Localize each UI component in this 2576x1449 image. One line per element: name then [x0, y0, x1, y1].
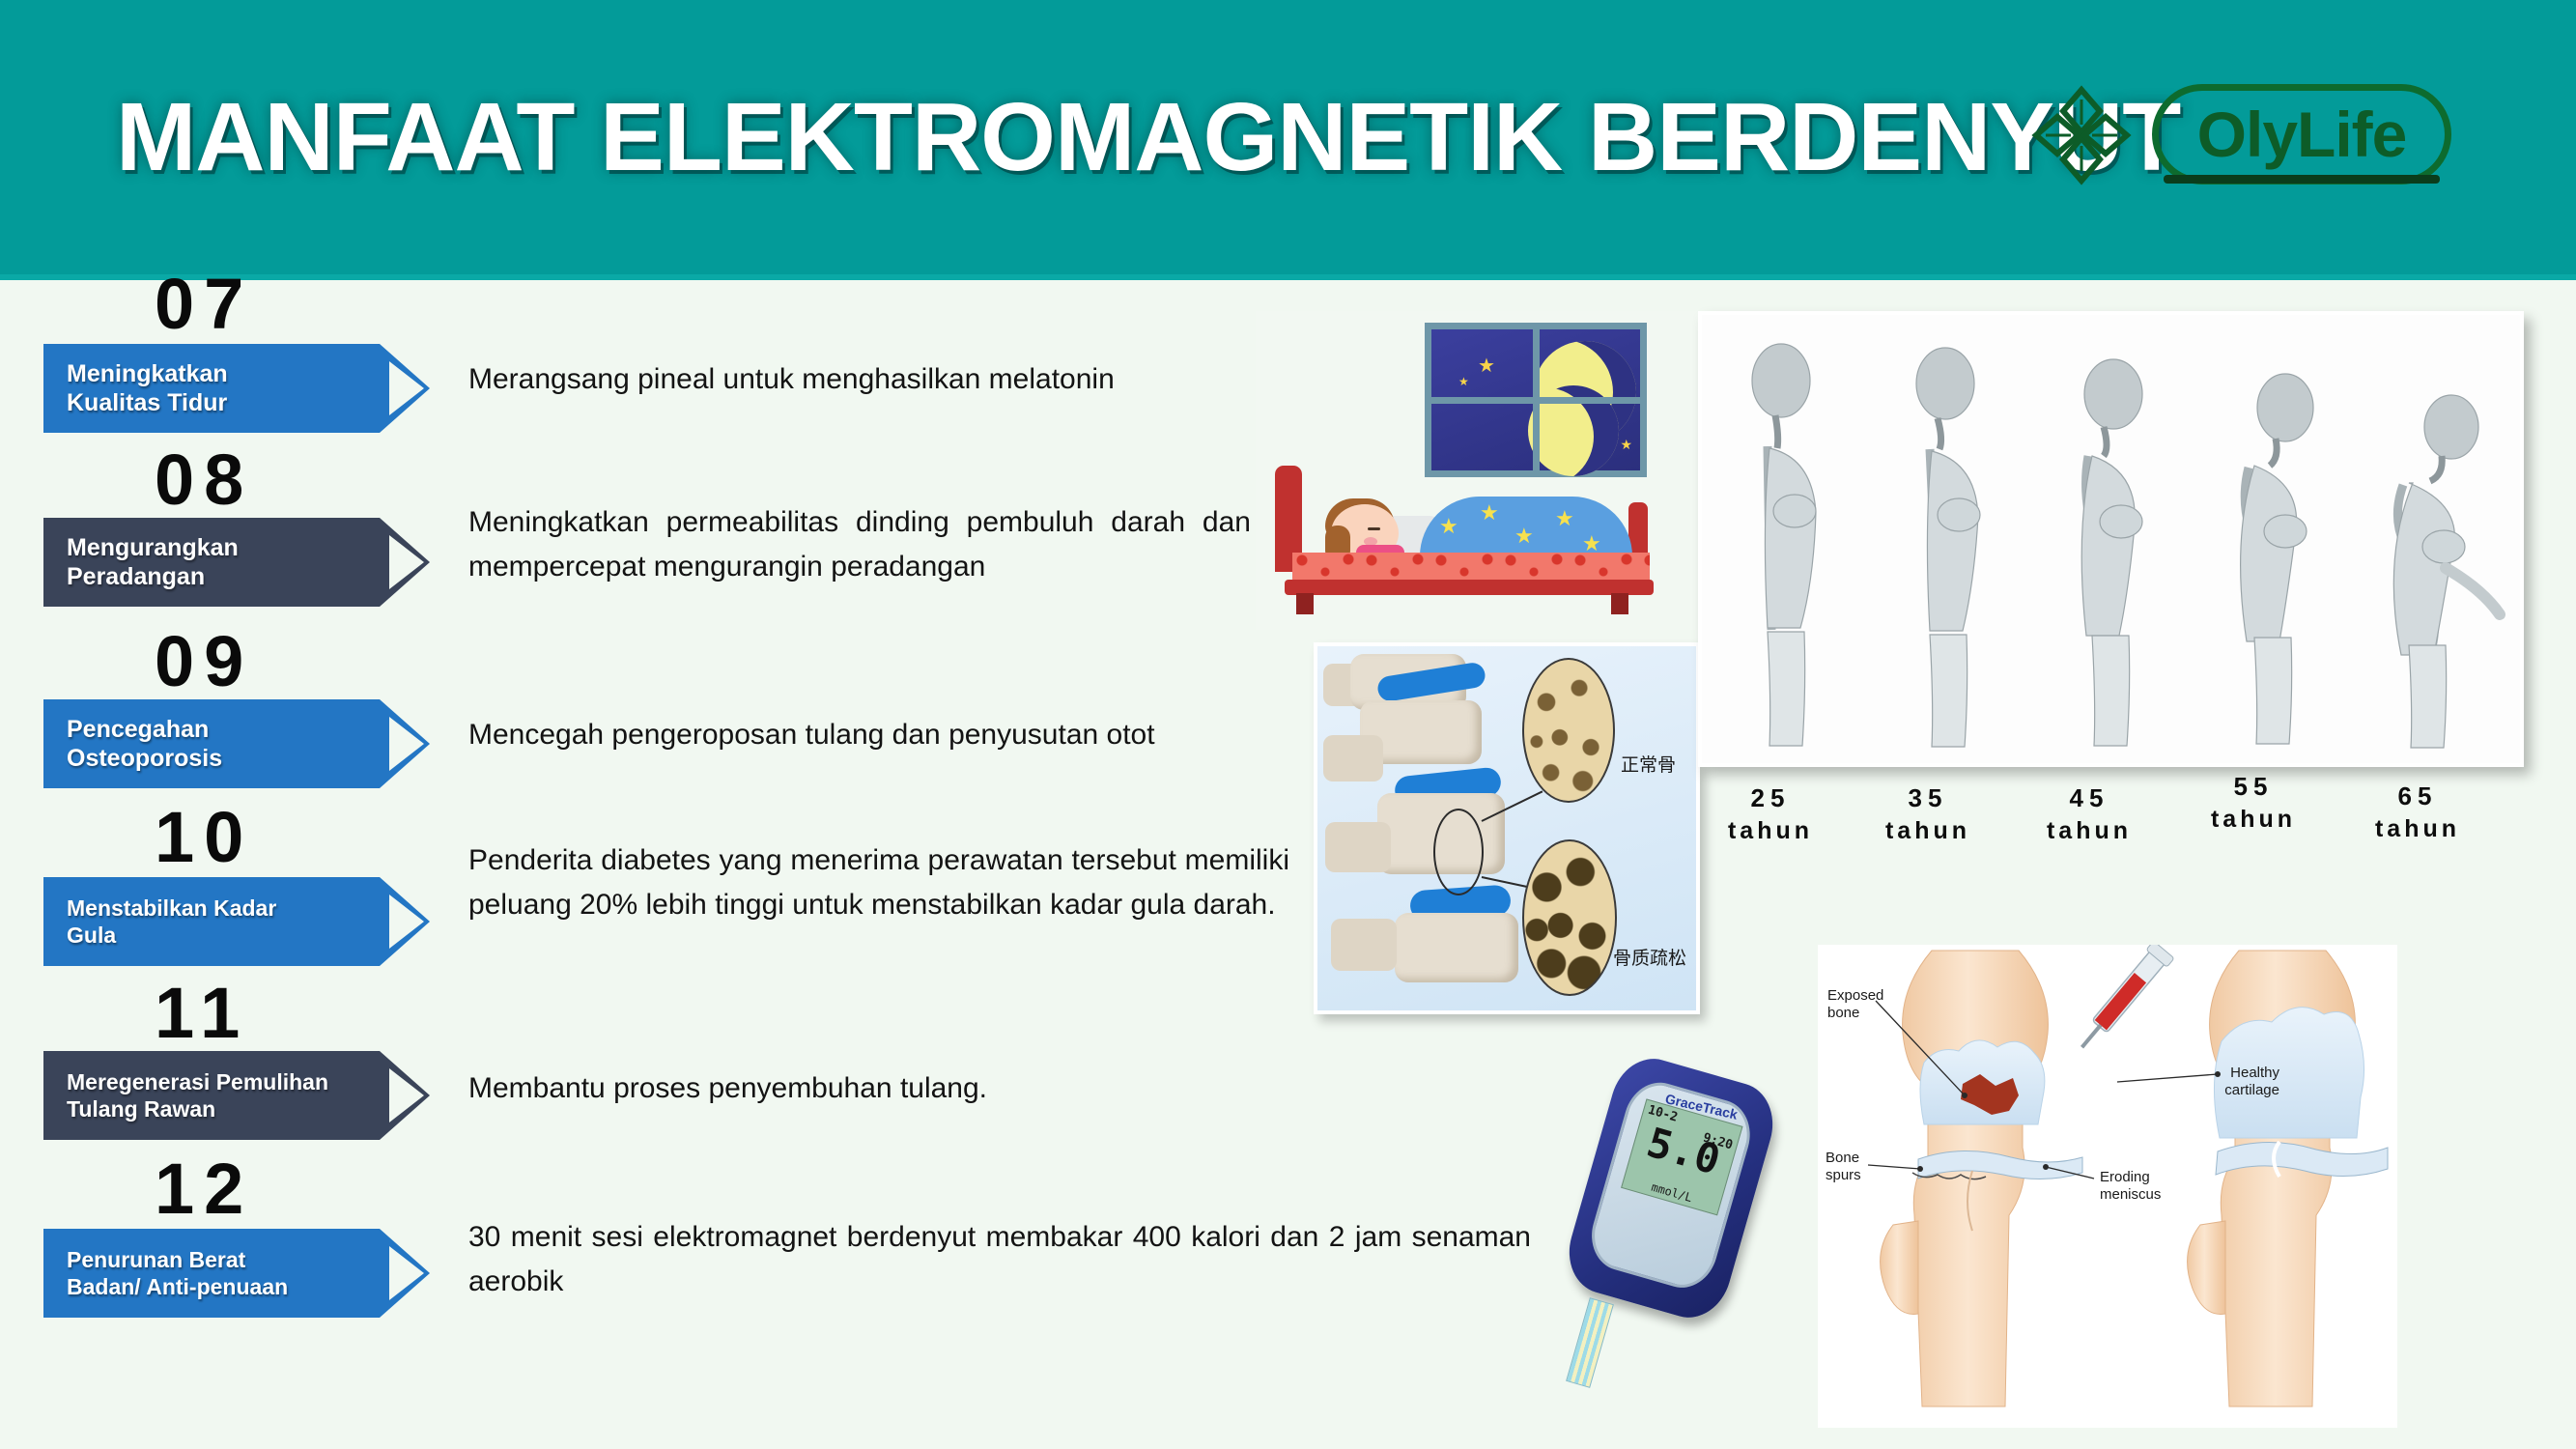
- benefit-label-line2: Peradangan: [67, 562, 430, 592]
- spinous-process: [1323, 735, 1383, 781]
- blanket: ★ ★ ★ ★ ★: [1420, 497, 1632, 556]
- vertebra-body: [1395, 913, 1518, 982]
- benefit-label-line2: Gula: [67, 922, 430, 949]
- olylife-logo: OlyLife: [2028, 82, 2453, 188]
- benefit-label-line1: Menstabilkan Kadar: [67, 895, 430, 922]
- meter-reading: 5.0: [1630, 1119, 1737, 1184]
- benefit-label-line2: Badan/ Anti-penuaan: [67, 1273, 430, 1300]
- mattress: [1292, 553, 1650, 582]
- benefit-number: 08: [155, 444, 253, 516]
- star-icon: ★: [1478, 356, 1495, 376]
- age-unit: tahun: [2181, 806, 2326, 834]
- bone-sample-marker: [1433, 809, 1484, 895]
- star-icon: ★: [1439, 516, 1458, 537]
- logo-text: OlyLife: [2159, 91, 2445, 178]
- age-label: 65 tahun: [2345, 781, 2490, 843]
- age-unit: tahun: [1698, 817, 1843, 845]
- age-label: 35 tahun: [1855, 783, 2000, 845]
- benefit-label-line1: Penurunan Berat: [67, 1246, 430, 1273]
- healthy-cartilage-label-line1: Healthy: [2173, 1065, 2279, 1082]
- bone-spurs-label-line1: Bone: [1826, 1150, 1861, 1167]
- osteoporosis-spine-diagram: 正常骨 骨质疏松: [1314, 642, 1700, 1014]
- benefit-number: 09: [155, 626, 253, 697]
- spinous-process: [1331, 919, 1397, 971]
- healthy-cartilage-label: Healthy cartilage: [2173, 1065, 2279, 1099]
- arrow-notch: [389, 895, 424, 949]
- benefit-label-line1: Meningkatkan: [67, 359, 430, 389]
- star-icon: ★: [1514, 526, 1534, 547]
- star-icon: ★: [1620, 438, 1632, 451]
- logo-underline: [2164, 175, 2440, 184]
- bed-leg: [1296, 593, 1314, 614]
- arrow-notch: [389, 361, 424, 415]
- eroding-meniscus-label-line2: meniscus: [2100, 1186, 2161, 1204]
- benefit-description: Penderita diabetes yang menerima perawat…: [468, 838, 1289, 926]
- age-number: 65: [2345, 781, 2490, 811]
- benefit-description: 30 menit sesi elektromagnet berdenyut me…: [468, 1215, 1531, 1303]
- logo-wordmark-pill: OlyLife: [2152, 84, 2451, 185]
- age-label: 55 tahun: [2181, 772, 2326, 834]
- spinous-process: [1325, 822, 1391, 872]
- benefit-label-line2: Osteoporosis: [67, 744, 430, 774]
- benefit-number: 12: [155, 1153, 253, 1225]
- benefit-label-line1: Mengurangkan: [67, 533, 430, 563]
- age-unit: tahun: [2017, 817, 2162, 845]
- eroding-meniscus-label-line1: Eroding: [2100, 1169, 2161, 1186]
- bed: ★ ★ ★ ★ ★: [1275, 466, 1642, 611]
- exposed-bone-label-line2: bone: [1827, 1005, 1883, 1022]
- osteoporosis-label: 骨质疏松: [1613, 944, 1686, 970]
- benefit-label-08[interactable]: Mengurangkan Peradangan: [43, 518, 430, 607]
- mattress-pattern: [1292, 553, 1650, 582]
- age-label: 25 tahun: [1698, 783, 1843, 845]
- arrow-notch: [389, 535, 424, 589]
- exposed-bone-label: Exposed bone: [1827, 987, 1883, 1022]
- posture-progression-diagram: [1698, 311, 2524, 767]
- arrow-notch: [389, 1068, 424, 1122]
- benefit-description: Membantu proses penyembuhan tulang.: [468, 1066, 1260, 1111]
- age-number: 55: [2181, 772, 2326, 802]
- benefit-number: 10: [155, 802, 253, 873]
- benefit-label-line1: Meregenerasi Pemulihan: [67, 1068, 430, 1095]
- normal-bone-label: 正常骨: [1621, 751, 1676, 777]
- benefit-label-09[interactable]: Pencegahan Osteoporosis: [43, 699, 430, 788]
- star-icon: ★: [1555, 508, 1574, 529]
- benefit-label-10[interactable]: Menstabilkan Kadar Gula: [43, 877, 430, 966]
- benefits-list: 07 Meningkatkan Kualitas Tidur Merangsan…: [0, 278, 1285, 1449]
- benefit-description: Merangsang pineal untuk menghasilkan mel…: [468, 357, 1241, 402]
- benefit-label-line2: Kualitas Tidur: [67, 388, 430, 418]
- age-unit: tahun: [2345, 815, 2490, 843]
- age-unit: tahun: [1855, 817, 2000, 845]
- benefit-label-line1: Pencegahan: [67, 715, 430, 745]
- star-icon: ★: [1458, 376, 1469, 387]
- osteoporotic-bone-sample: [1522, 839, 1617, 996]
- four-petal-flower-icon: [2028, 82, 2135, 188]
- benefit-label-07[interactable]: Meningkatkan Kualitas Tidur: [43, 344, 430, 433]
- healthy-cartilage-label-line2: cartilage: [2173, 1082, 2279, 1099]
- arrow-notch: [389, 1246, 424, 1300]
- bed-base: [1285, 580, 1654, 595]
- test-strip: [1566, 1297, 1614, 1388]
- star-icon: ★: [1480, 502, 1499, 524]
- meter-bezel: GraceTrack 10-2 9:20 5.0 mmol/L: [1583, 1075, 1759, 1296]
- knee-cartilage-diagram: Exposed bone Bone spurs Eroding meniscus…: [1818, 945, 2397, 1428]
- meter-body: GraceTrack 10-2 9:20 5.0 mmol/L: [1559, 1049, 1783, 1326]
- night-window: ★ ★ ★: [1425, 323, 1647, 477]
- page-title: MANFAAT ELEKTROMAGNETIK BERDENYUT: [116, 82, 2180, 193]
- child-eye: [1368, 527, 1380, 530]
- normal-bone-sample: [1522, 658, 1615, 803]
- posture-figures: [1702, 315, 2524, 767]
- age-labels-row: 25 tahun 35 tahun 45 tahun 55 tahun 65 t…: [1698, 778, 2524, 855]
- window-mullion-horizontal: [1431, 397, 1640, 404]
- benefit-number: 07: [155, 269, 253, 340]
- benefit-number: 11: [155, 978, 249, 1049]
- age-label: 45 tahun: [2017, 783, 2162, 845]
- benefit-label-11[interactable]: Meregenerasi Pemulihan Tulang Rawan: [43, 1051, 430, 1140]
- age-number: 45: [2017, 783, 2162, 813]
- benefit-description: Meningkatkan permeabilitas dinding pembu…: [468, 500, 1251, 588]
- bed-leg: [1611, 593, 1628, 614]
- blood-glucose-meter: GraceTrack 10-2 9:20 5.0 mmol/L: [1560, 1058, 1801, 1377]
- bone-spurs-label-line2: spurs: [1826, 1167, 1861, 1184]
- sleeping-child-illustration: ★ ★ ★ ★ ★ ★ ★ ★: [1256, 311, 1700, 630]
- eroding-meniscus-label: Eroding meniscus: [2100, 1169, 2161, 1204]
- benefit-label-line2: Tulang Rawan: [67, 1095, 430, 1122]
- star-icon: ★: [1582, 533, 1601, 554]
- exposed-bone-label-line1: Exposed: [1827, 987, 1883, 1005]
- age-number: 35: [1855, 783, 2000, 813]
- arrow-notch: [389, 717, 424, 771]
- benefit-label-12[interactable]: Penurunan Berat Badan/ Anti-penuaan: [43, 1229, 430, 1318]
- age-number: 25: [1698, 783, 1843, 813]
- bone-spurs-label: Bone spurs: [1826, 1150, 1861, 1184]
- benefit-description: Mencegah pengeroposan tulang dan penyusu…: [468, 713, 1260, 757]
